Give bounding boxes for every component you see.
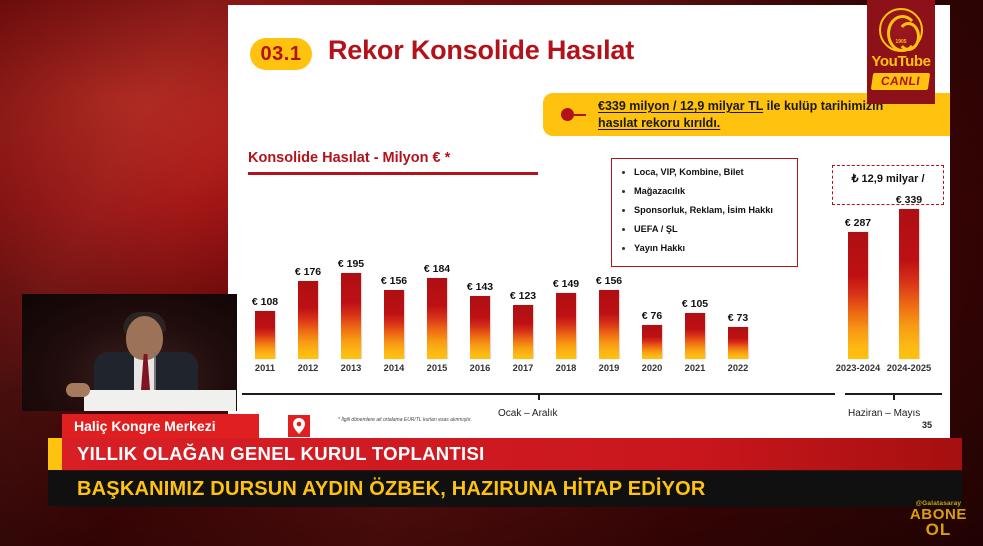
bar-category-label: 2024-2025	[886, 363, 932, 373]
bar-column: € 1492018	[543, 278, 589, 373]
speaker-video-inset	[22, 294, 237, 411]
slide-title: Rekor Konsolide Hasılat	[328, 35, 634, 66]
chart-heading-rule	[248, 172, 538, 175]
bar-column: € 1952013	[328, 258, 374, 373]
bar-category-label: 2018	[543, 363, 589, 373]
bar-column: € 1842015	[414, 263, 460, 373]
bar-category-label: 2012	[285, 363, 331, 373]
bar	[599, 290, 619, 359]
bar-value-label: € 105	[672, 298, 718, 310]
headline-banner: YILLIK OLAĞAN GENEL KURUL TOPLANTISI	[62, 438, 962, 470]
bar-category-label: 2020	[629, 363, 675, 373]
headline-accent-bar	[48, 438, 62, 470]
bar-chart-plot: € 1082011€ 1762012€ 1952013€ 1562014€ 18…	[242, 180, 942, 395]
section-number-badge: 03.1	[250, 38, 312, 70]
bar-column: € 3392024-2025	[886, 194, 932, 373]
live-label: CANLI	[871, 73, 931, 90]
callout-rest: ile kulüp tarihimizin	[763, 99, 883, 113]
bar-value-label: € 76	[629, 310, 675, 322]
subhead-accent-bar	[48, 470, 62, 506]
callout-leader-line	[574, 114, 586, 116]
subscribe-line2: OL	[910, 522, 967, 538]
bar	[899, 209, 919, 359]
bar-value-label: € 149	[543, 278, 589, 290]
live-badge: 1905 YouTube CANLI	[867, 0, 935, 104]
group-label-left: Ocak – Aralık	[498, 408, 557, 419]
callout-line2: hasılat rekoru kırıldı.	[598, 116, 720, 130]
bar-value-label: € 73	[715, 312, 761, 324]
bar-column: € 1562014	[371, 275, 417, 373]
group-brace-right	[845, 393, 942, 407]
logo-year: 1905	[881, 39, 921, 45]
bar-value-label: € 156	[586, 275, 632, 287]
bar-category-label: 2019	[586, 363, 632, 373]
speaker-hand	[66, 383, 90, 397]
group-brace-left	[242, 393, 835, 407]
map-pin-icon	[288, 415, 310, 437]
bar-value-label: € 123	[500, 290, 546, 302]
bar	[848, 232, 868, 359]
speaker-head	[126, 316, 163, 360]
bar	[384, 290, 404, 359]
bar-category-label: 2011	[242, 363, 288, 373]
bar-column: € 732022	[715, 312, 761, 373]
bar-value-label: € 339	[886, 194, 932, 206]
presentation-slide: 03.1 Rekor Konsolide Hasılat €339 milyon…	[228, 5, 950, 445]
bar-column: € 1052021	[672, 298, 718, 373]
bar-column: € 1082011	[242, 296, 288, 373]
bar-value-label: € 143	[457, 281, 503, 293]
group-label-right: Haziran – Mayıs	[848, 408, 920, 419]
youtube-label: YouTube	[871, 53, 930, 70]
location-label: Haliç Kongre Merkezi	[74, 418, 216, 434]
bar	[728, 327, 748, 359]
subhead-text: BAŞKANIMIZ DURSUN AYDIN ÖZBEK, HAZIRUNA …	[62, 478, 706, 501]
subscribe-watermark: @Galatasaray ABONE OL	[910, 500, 967, 538]
galatasaray-logo-icon: 1905	[879, 8, 923, 52]
bar-column: € 1762012	[285, 266, 331, 373]
podium	[84, 390, 236, 411]
page-number: 35	[922, 420, 932, 430]
bar	[642, 325, 662, 359]
bar-value-label: € 156	[371, 275, 417, 287]
bar-category-label: 2016	[457, 363, 503, 373]
callout-highlight: €339 milyon / 12,9 milyar TL	[598, 99, 763, 113]
bar-category-label: 2015	[414, 363, 460, 373]
bar-value-label: € 195	[328, 258, 374, 270]
bar-category-label: 2013	[328, 363, 374, 373]
chart-heading: Konsolide Hasılat - Milyon € *	[248, 150, 450, 166]
bar-column: € 1432016	[457, 281, 503, 373]
bar	[255, 311, 275, 359]
broadcast-screen: 03.1 Rekor Konsolide Hasılat €339 milyon…	[0, 0, 983, 546]
bar	[427, 278, 447, 359]
bar	[556, 293, 576, 359]
bar-category-label: 2021	[672, 363, 718, 373]
bar	[685, 313, 705, 359]
headline-text: YILLIK OLAĞAN GENEL KURUL TOPLANTISI	[62, 443, 485, 465]
bar-value-label: € 108	[242, 296, 288, 308]
bar	[470, 296, 490, 359]
bar-category-label: 2014	[371, 363, 417, 373]
microphone-icon	[154, 352, 156, 392]
bar	[341, 273, 361, 359]
bar-category-label: 2023-2024	[835, 363, 881, 373]
chart-footnote: * İlgili dönemlere ait ortalama EUR/TL k…	[338, 417, 472, 423]
bar-column: € 762020	[629, 310, 675, 373]
callout-bullet-icon	[561, 108, 574, 121]
bar-value-label: € 287	[835, 217, 881, 229]
location-banner: Haliç Kongre Merkezi	[62, 414, 259, 438]
bar-column: € 2872023-2024	[835, 217, 881, 373]
bar-column: € 1562019	[586, 275, 632, 373]
bar-category-label: 2017	[500, 363, 546, 373]
bar-value-label: € 184	[414, 263, 460, 275]
bar-column: € 1232017	[500, 290, 546, 373]
bar-category-label: 2022	[715, 363, 761, 373]
bar	[298, 281, 318, 359]
bar	[513, 305, 533, 359]
list-item: Loca, VIP, Kombine, Bilet	[634, 167, 791, 178]
bar-value-label: € 176	[285, 266, 331, 278]
subhead-banner: BAŞKANIMIZ DURSUN AYDIN ÖZBEK, HAZIRUNA …	[62, 470, 962, 507]
